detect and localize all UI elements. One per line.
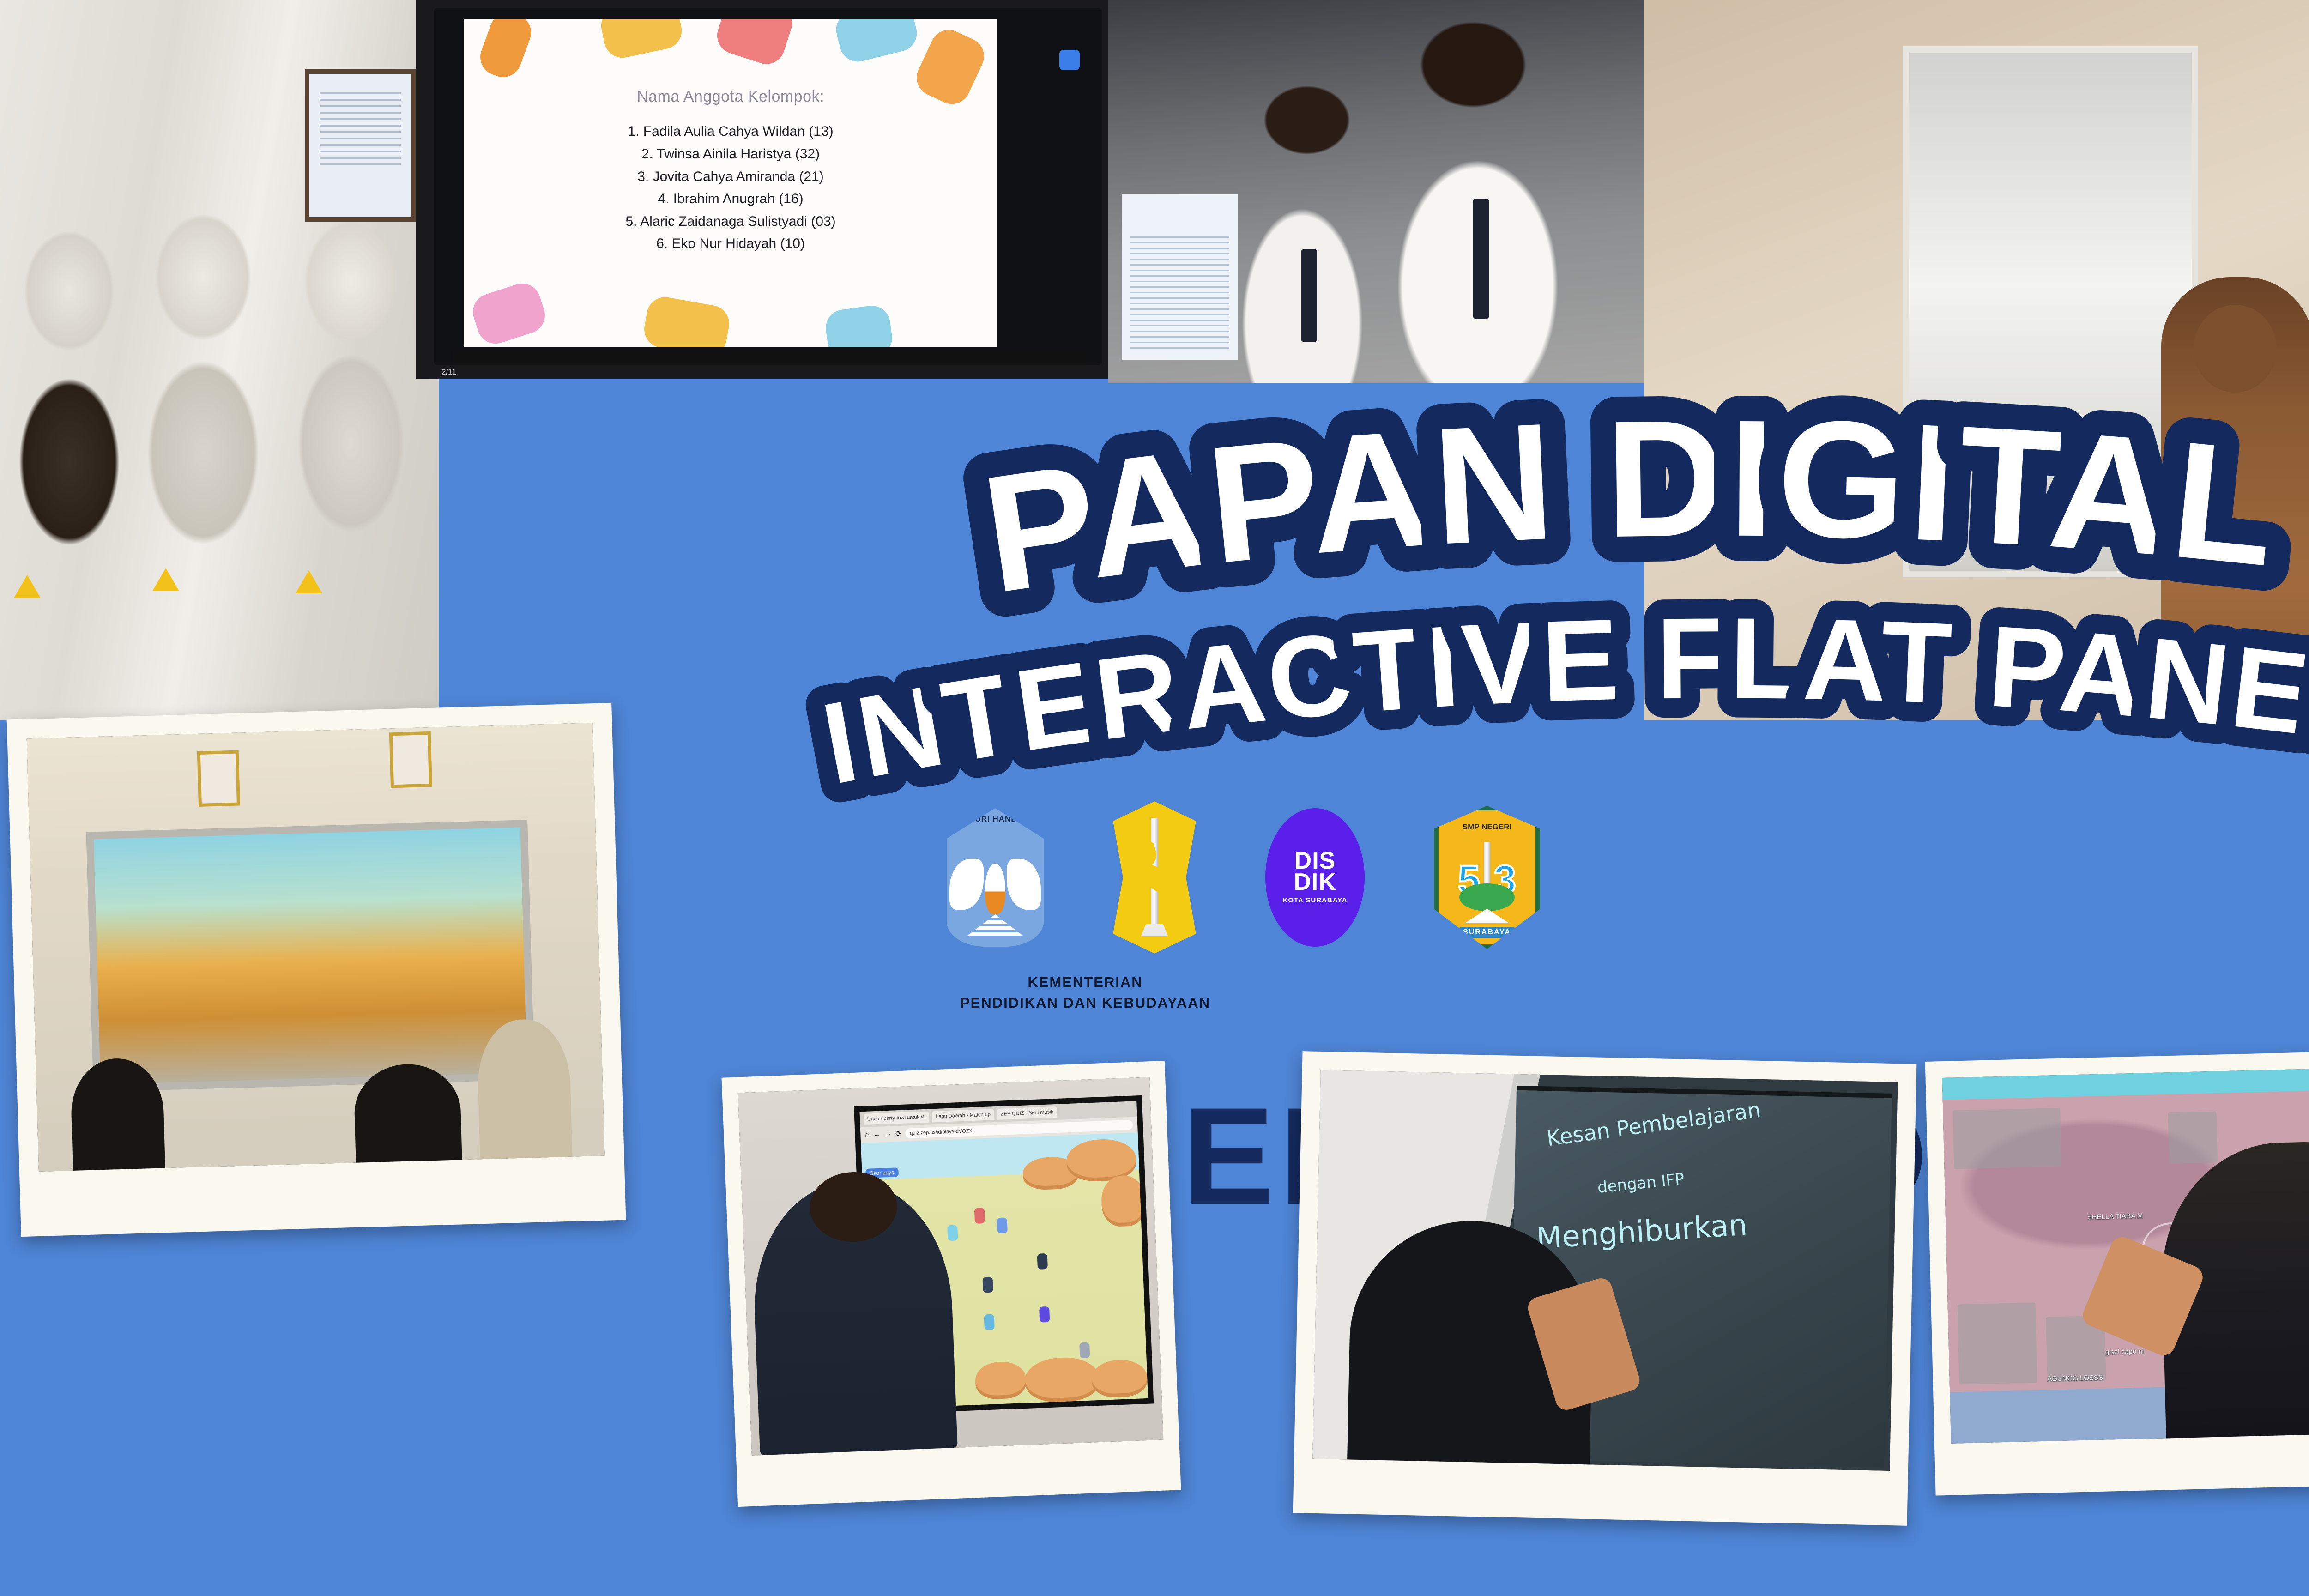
photo-classroom-video xyxy=(7,703,626,1237)
whiteboard-line3: Menghiburkan xyxy=(1535,1208,1748,1256)
photo-game-touch: Pemain Profil SHELLA TIARA M gisel capo … xyxy=(1925,1049,2309,1495)
logo-row: TUT WURI HANDAYANI DISDIK KOTA SURABAYA … xyxy=(947,794,1824,961)
slide-list-item: 4. Ibrahim Anugrah (16) xyxy=(464,188,998,211)
disdik-surabaya-logo: DISDIK KOTA SURABAYA xyxy=(1265,808,1365,947)
slide-toolbar xyxy=(453,351,1086,365)
slide-list-item: 6. Eko Nur Hidayah (10) xyxy=(464,233,998,255)
back-icon[interactable]: ← xyxy=(873,1130,881,1139)
slide-list-item: 2. Twinsa Ainila Haristya (32) xyxy=(464,143,998,166)
home-icon[interactable]: ⌂ xyxy=(865,1131,870,1139)
tut-wuri-handayani-logo: TUT WURI HANDAYANI xyxy=(947,808,1044,947)
browser-tab[interactable]: Lagu Daerah - Match up xyxy=(932,1109,994,1122)
kota-surabaya-logo xyxy=(1113,801,1196,954)
slide-member-list: 1. Fadila Aulia Cahya Wildan (13) 2. Twi… xyxy=(464,121,998,255)
slide-heading: Nama Anggota Kelompok: xyxy=(464,88,998,106)
browser-tab[interactable]: Unduh party-fowl untuk W xyxy=(863,1112,929,1125)
disdik-initials: DISDIK xyxy=(1294,851,1336,893)
slide-list-item: 5. Alaric Zaidanaga Sulistyadi (03) xyxy=(464,211,998,233)
reload-icon[interactable]: ⟳ xyxy=(895,1129,901,1139)
photo-students-hallway xyxy=(0,0,439,720)
smp-top-text: SMP NEGERI xyxy=(1439,822,1535,832)
disdik-subtitle: KOTA SURABAYA xyxy=(1282,896,1347,904)
player-tag: SHELLA TIARA M xyxy=(2087,1212,2143,1221)
visi-misi-poster xyxy=(1122,194,1238,360)
tut-wuri-motto: TUT WURI HANDAYANI xyxy=(947,815,1044,824)
slide-counter: 2/11 xyxy=(441,368,456,377)
ifp-bezel: Nama Anggota Kelompok: 1. Fadila Aulia C… xyxy=(434,8,1102,365)
crocodile-icon xyxy=(1139,863,1189,901)
poster-canvas: EDUCATION Nama Anggota K xyxy=(0,0,2309,1596)
ministry-caption-line2: PENDIDIKAN DAN KEBUDAYAAN xyxy=(901,993,1270,1014)
photo-teacher-ifp: TEKNIK VOKAL xyxy=(1644,0,2309,720)
slide-content: Nama Anggota Kelompok: 1. Fadila Aulia C… xyxy=(464,19,998,347)
photo-presentation-screen: Nama Anggota Kelompok: 1. Fadila Aulia C… xyxy=(416,0,1118,379)
whiteboard-line1: Kesan Pembelajaran xyxy=(1545,1097,1762,1151)
uniform-badge xyxy=(152,568,179,591)
ministry-caption: KEMENTERIAN PENDIDIKAN DAN KEBUDAYAAN xyxy=(901,972,1270,1014)
wall-frame xyxy=(305,69,416,222)
door-frame xyxy=(1903,46,2198,577)
photo-two-boys xyxy=(1108,0,1653,383)
book-icon xyxy=(1465,907,1509,923)
teacher-figure xyxy=(2161,277,2309,720)
browser-tab[interactable]: ZEP QUIZ - Seni musik xyxy=(997,1106,1057,1120)
forward-icon[interactable]: → xyxy=(884,1130,892,1139)
screen-side-button-icon xyxy=(1059,50,1080,70)
photo-zep-quiz: Unduh party-fowl untuk W Lagu Daerah - M… xyxy=(722,1061,1181,1507)
uniform-badge xyxy=(14,575,41,598)
player-tag: gisel capo ni xyxy=(2105,1348,2144,1356)
photo-whiteboard-writing: Kesan Pembelajaran dengan IFP Menghiburk… xyxy=(1293,1051,1917,1526)
smp-negeri-53-logo: SMP NEGERI 53 SURABAYA xyxy=(1434,806,1540,949)
uniform-badge xyxy=(296,570,322,593)
smp-ribbon: SURABAYA xyxy=(1457,927,1517,938)
player-tag: AGUNGG LOSSS xyxy=(2047,1374,2103,1383)
whiteboard-line2: dengan IFP xyxy=(1596,1170,1685,1197)
top-photo-collage: Nama Anggota Kelompok: 1. Fadila Aulia C… xyxy=(0,0,2309,720)
ministry-caption-line1: KEMENTERIAN xyxy=(901,972,1270,993)
slide-list-item: 3. Jovita Cahya Amiranda (21) xyxy=(464,166,998,188)
slide-list-item: 1. Fadila Aulia Cahya Wildan (13) xyxy=(464,121,998,143)
